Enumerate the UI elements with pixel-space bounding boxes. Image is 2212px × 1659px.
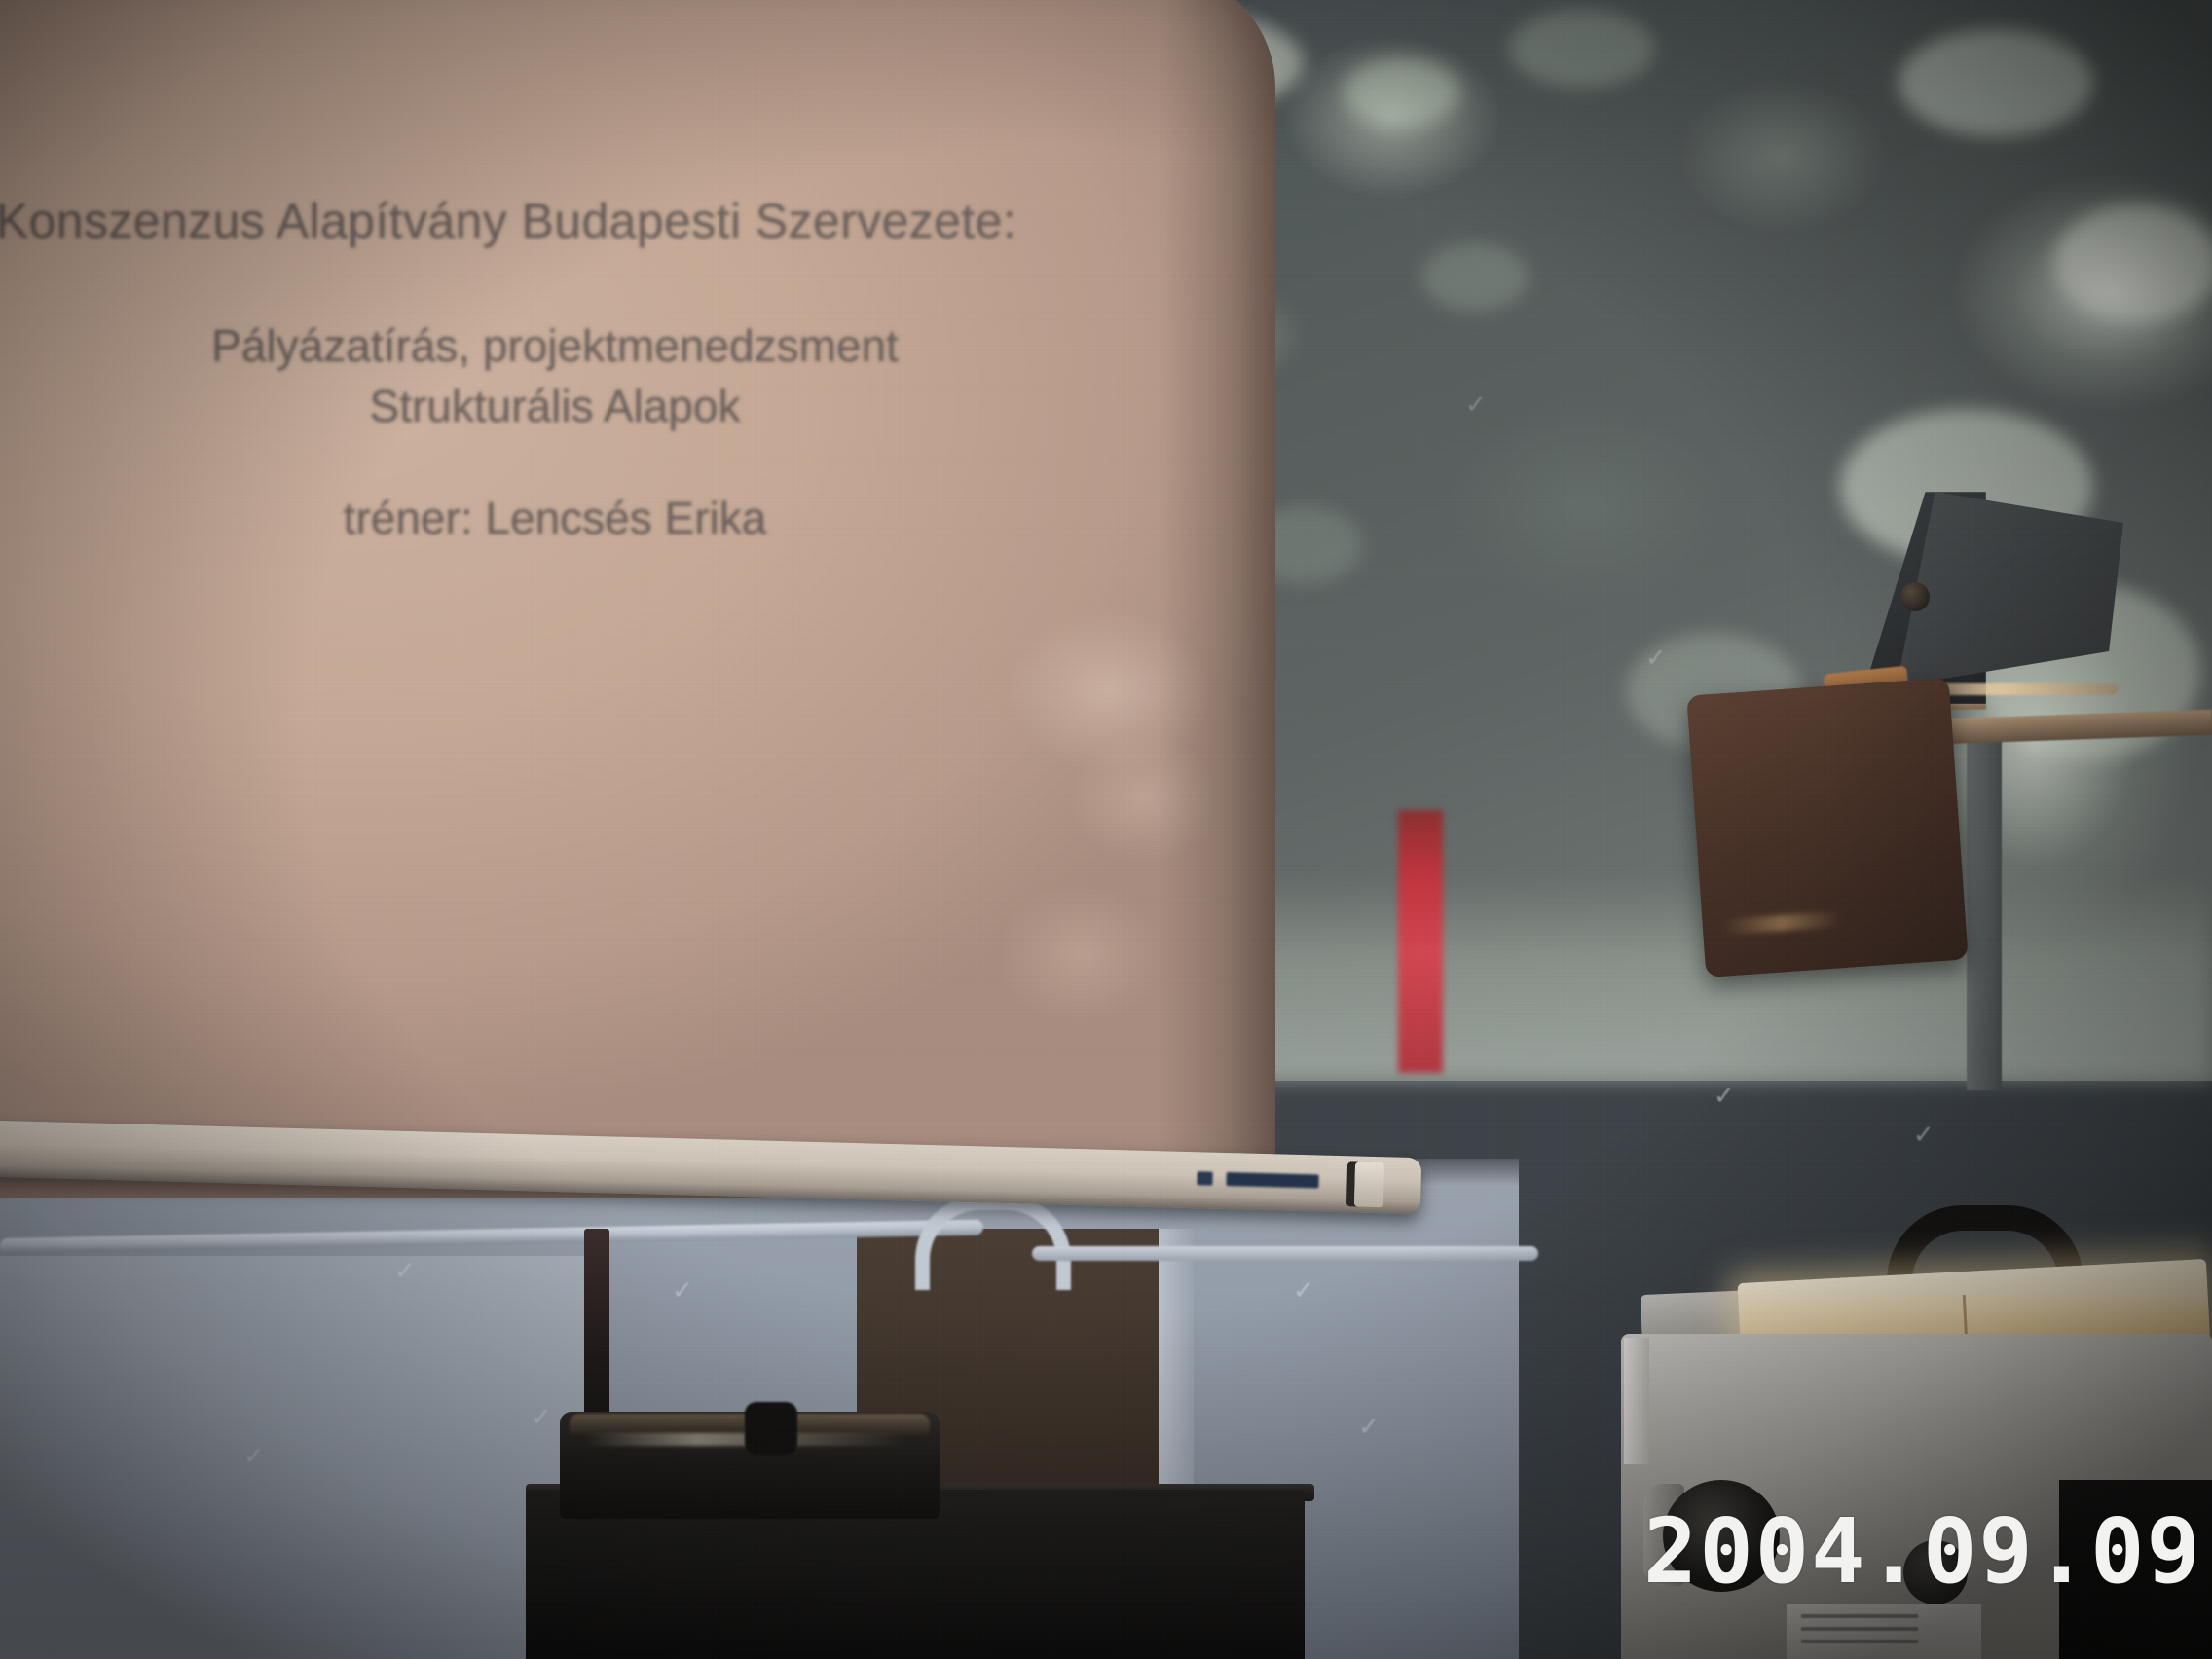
wall-panel xyxy=(0,1256,604,1659)
wall-scuff-mark: ✓ xyxy=(1358,1412,1380,1442)
slide-trainer-line: tréner: Lencsés Erika xyxy=(0,492,1110,544)
dark-wall-pole xyxy=(584,1229,609,1443)
photograph: ✓ ✓ ✓ ✓ ✓ ✓ ✓ ✓ ✓ ✓ Konszenzus Alapítván… xyxy=(0,0,2212,1659)
ohp-body-edge xyxy=(1624,1338,1649,1464)
ohp-vent-lines xyxy=(1801,1614,1918,1651)
wall-scuff-mark: ✓ xyxy=(1645,643,1667,673)
ohp-column xyxy=(1967,740,2002,1090)
screen-bar-end-cap xyxy=(1354,1161,1384,1207)
date-stamp: 2004.09.09 xyxy=(1643,1499,2202,1604)
red-post-outside xyxy=(1398,810,1443,1073)
wall-scuff-mark: ✓ xyxy=(531,1402,552,1432)
screen-bar-dot xyxy=(1197,1171,1212,1185)
white-wall-pipe-right xyxy=(1032,1246,1538,1261)
wall-scuff-mark: ✓ xyxy=(1913,1120,1935,1150)
briefcase-handle xyxy=(745,1402,797,1455)
wall-scuff-mark: ✓ xyxy=(394,1256,416,1286)
wall-scuff-mark: ✓ xyxy=(1714,1081,1735,1111)
wall-scuff-mark: ✓ xyxy=(243,1441,265,1471)
slide-organization-line: Konszenzus Alapítvány Budapesti Szerveze… xyxy=(0,193,1090,249)
screen-bar-label xyxy=(1226,1172,1318,1188)
slide-topic-line-2: Strukturális Alapok xyxy=(0,380,1110,432)
slide-topic-line-1: Pályázatírás, projektmenedzsment xyxy=(0,319,1110,372)
wall-scuff-mark: ✓ xyxy=(1465,389,1487,420)
projection-screen: Konszenzus Alapítvány Budapesti Szerveze… xyxy=(0,0,1275,1198)
ohp-focus-knob[interactable] xyxy=(1900,582,1930,611)
pipe-arch xyxy=(915,1196,1071,1290)
wall-scuff-mark: ✓ xyxy=(1293,1275,1314,1306)
wall-scuff-mark: ✓ xyxy=(672,1275,693,1306)
projected-slide: Konszenzus Alapítvány Budapesti Szerveze… xyxy=(0,0,1275,1198)
